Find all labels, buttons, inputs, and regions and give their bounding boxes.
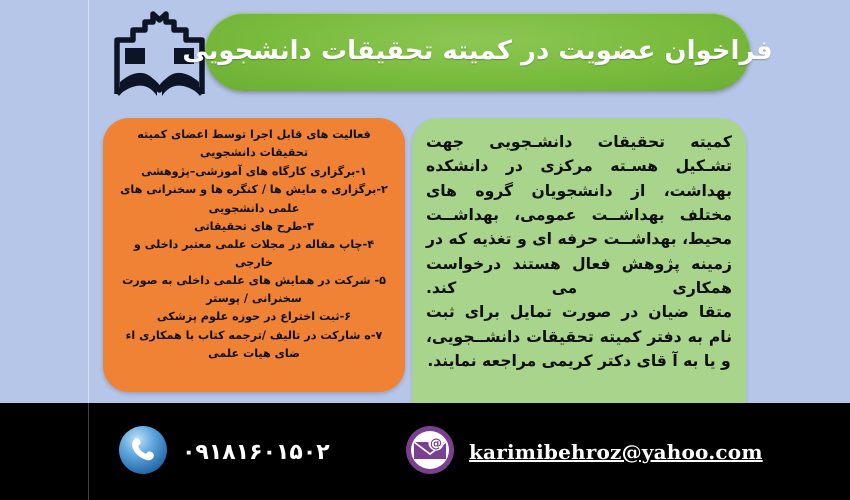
activities-heading: فعالیت های قابل اجرا توسط اعضای کمیته تح… [113,126,395,162]
activity-item: ۶-ثبت اختراع در حوزه علوم پزشکی [113,308,395,326]
contact-phone[interactable]: ۰۹۱۸۱۶۰۱۵۰۲ [118,425,330,479]
description-paragraph: کمیته تحقیقات دانشـجویی جهت تشـکیل هسـته… [426,130,732,300]
email-address: karimibehroz@yahoo.com [469,440,763,464]
activity-item: ۵- شرکت در همایش های علمی داخلی به صورت … [113,272,395,308]
poster-header: فراخوان عضویت در کمیته تحقیقات دانشجویی [0,0,850,108]
activity-item: ۱-برگزاری کارگاه های آموزشی–پژوهشی [113,163,395,181]
contact-email[interactable]: @ karimibehroz@yahoo.com [405,425,763,479]
phone-number: ۰۹۱۸۱۶۰۱۵۰۲ [182,440,330,465]
page-title: فراخوان عضویت در کمیته تحقیقات دانشجویی [160,36,794,67]
poster-title-banner: فراخوان عضویت در کمیته تحقیقات دانشجویی [205,13,750,91]
phone-icon [118,425,168,479]
email-envelope-icon: @ [405,425,455,479]
activity-item: ۷-ه شارکت در تالیف /ترجمه کتاب با همکاری… [113,327,395,363]
activity-item: ۳-طرح های تحقیقاتی [113,218,395,236]
description-panel: کمیته تحقیقات دانشـجویی جهت تشـکیل هسـته… [412,118,746,403]
svg-text:@: @ [430,436,442,450]
poster-root: فراخوان عضویت در کمیته تحقیقات دانشجویی … [0,0,850,500]
activity-item: ۲-برگزاری ه مایش ها / کنگره ها و سخنرانی… [113,181,395,217]
activities-panel: فعالیت های قابل اجرا توسط اعضای کمیته تح… [103,118,405,392]
description-paragraph: متقا ضیان در صورت تمایل برای ثبت نام به … [426,300,732,373]
activity-item: ۴-چاپ مقاله در مجلات علمی معتبر داخلی و … [113,236,395,272]
